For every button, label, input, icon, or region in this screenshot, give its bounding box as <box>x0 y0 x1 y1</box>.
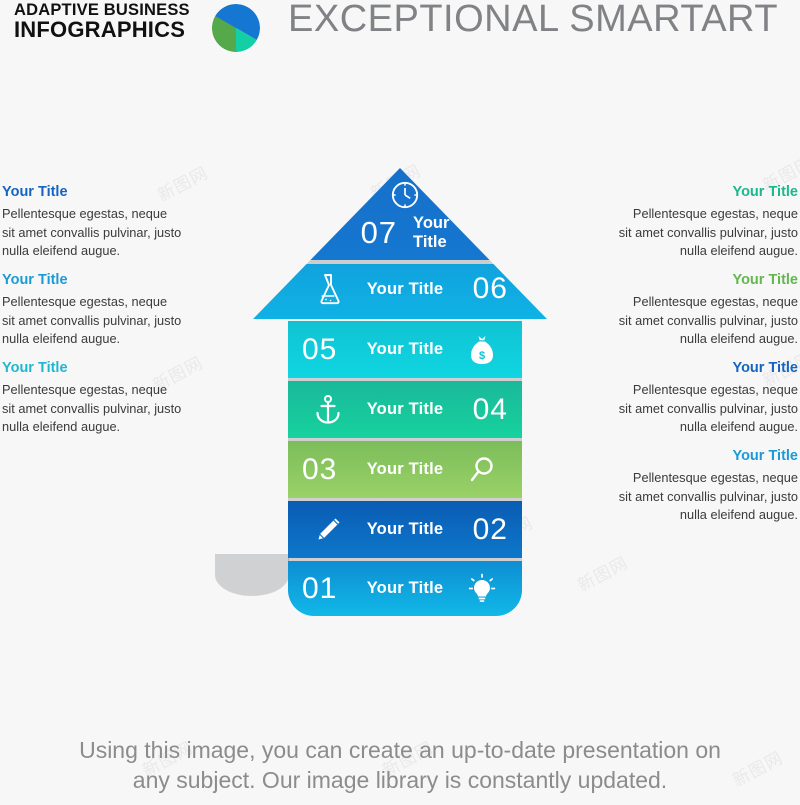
arrow-row-05-number: 05 <box>302 335 354 365</box>
body-line: nulla eleifend augue. <box>598 506 798 524</box>
body-line: Pellentesque egestas, neque <box>2 381 202 399</box>
arrow-row-07[interactable]: 07 YourTitle <box>288 205 522 260</box>
caption-line-2: any subject. Our image library is consta… <box>0 765 800 795</box>
body-line: sit amet convallis pulvinar, justo <box>598 312 798 330</box>
body-line: nulla eleifend augue. <box>598 330 798 348</box>
body-line: nulla eleifend augue. <box>2 330 202 348</box>
right-block-3-title: Your Title <box>598 360 798 377</box>
logo-pie-icon <box>212 4 260 52</box>
right-block-2-title: Your Title <box>598 272 798 289</box>
right-block-3-body: Pellentesque egestas, neque sit amet con… <box>598 381 798 435</box>
page-title: EXCEPTIONAL SMARTART <box>288 0 778 41</box>
magnifier-icon <box>456 454 508 486</box>
arrow-row-03[interactable]: 03 Your Title <box>288 441 522 498</box>
anchor-icon <box>302 394 354 426</box>
body-line: nulla eleifend augue. <box>2 242 202 260</box>
page-header: ADAPTIVE BUSINESS INFOGRAPHICS EXCEPTION… <box>0 0 800 58</box>
lightbulb-icon <box>456 573 508 605</box>
left-block-1-body: Pellentesque egestas, neque sit amet con… <box>2 205 202 259</box>
body-line: sit amet convallis pulvinar, justo <box>2 400 202 418</box>
arrow-row-04[interactable]: Your Title 04 <box>288 381 522 438</box>
body-line: sit amet convallis pulvinar, justo <box>598 488 798 506</box>
right-block-4-body: Pellentesque egestas, neque sit amet con… <box>598 469 798 523</box>
arrow-row-06-number: 06 <box>456 274 508 304</box>
left-block-2-body: Pellentesque egestas, neque sit amet con… <box>2 293 202 347</box>
right-block-1: Your Title Pellentesque egestas, neque s… <box>598 184 798 260</box>
right-block-1-body: Pellentesque egestas, neque sit amet con… <box>598 205 798 259</box>
body-line: sit amet convallis pulvinar, justo <box>2 224 202 242</box>
left-block-3-title: Your Title <box>2 360 202 377</box>
body-line: nulla eleifend augue. <box>598 242 798 260</box>
pencil-icon <box>302 515 354 545</box>
body-line: Pellentesque egestas, neque <box>598 205 798 223</box>
arrow-row-02[interactable]: Your Title 02 <box>288 501 522 558</box>
shadow-disc <box>215 554 289 596</box>
arrow-row-01[interactable]: 01 Your Title <box>288 561 522 616</box>
left-block-1-title: Your Title <box>2 184 202 201</box>
arrow-row-03-title: Your Title <box>354 460 456 479</box>
arrow-row-03-number: 03 <box>302 455 354 485</box>
left-block-2: Your Title Pellentesque egestas, neque s… <box>2 272 202 348</box>
body-line: sit amet convallis pulvinar, justo <box>598 400 798 418</box>
watermark-text: 新图网 <box>572 549 631 596</box>
right-block-4: Your Title Pellentesque egestas, neque s… <box>598 448 798 524</box>
arrow-row-05[interactable]: 05 Your Title $ <box>288 321 522 378</box>
caption-line-1: Using this image, you can create an up-t… <box>0 735 800 765</box>
arrow-row-07-number: 07 <box>361 217 397 248</box>
footer-caption: Using this image, you can create an up-t… <box>0 735 800 796</box>
body-line: nulla eleifend augue. <box>598 418 798 436</box>
right-block-2-body: Pellentesque egestas, neque sit amet con… <box>598 293 798 347</box>
brand-line-2: INFOGRAPHICS <box>14 19 190 41</box>
arrow-row-01-number: 01 <box>302 574 354 604</box>
brand-lockup: ADAPTIVE BUSINESS INFOGRAPHICS <box>14 2 190 41</box>
right-block-2: Your Title Pellentesque egestas, neque s… <box>598 272 798 348</box>
body-line: Pellentesque egestas, neque <box>2 205 202 223</box>
body-line: Pellentesque egestas, neque <box>598 469 798 487</box>
right-block-3: Your Title Pellentesque egestas, neque s… <box>598 360 798 436</box>
flask-icon <box>302 272 354 306</box>
arrow-row-06[interactable]: Your Title 06 <box>288 265 522 313</box>
left-block-1: Your Title Pellentesque egestas, neque s… <box>2 184 202 260</box>
arrow-row-04-number: 04 <box>456 395 508 425</box>
left-block-2-title: Your Title <box>2 272 202 289</box>
svg-text:$: $ <box>479 350 485 362</box>
body-line: Pellentesque egestas, neque <box>2 293 202 311</box>
body-line: Pellentesque egestas, neque <box>598 381 798 399</box>
arrow-row-02-number: 02 <box>456 515 508 545</box>
arrow-row-01-title: Your Title <box>354 579 456 598</box>
arrow-row-06-title: Your Title <box>354 280 456 299</box>
body-line: sit amet convallis pulvinar, justo <box>2 312 202 330</box>
left-block-3: Your Title Pellentesque egestas, neque s… <box>2 360 202 436</box>
arrow-row-04-title: Your Title <box>354 400 456 419</box>
body-line: Pellentesque egestas, neque <box>598 293 798 311</box>
left-block-3-body: Pellentesque egestas, neque sit amet con… <box>2 381 202 435</box>
body-line: nulla eleifend augue. <box>2 418 202 436</box>
right-block-4-title: Your Title <box>598 448 798 465</box>
arrow-row-05-title: Your Title <box>354 340 456 359</box>
right-block-1-title: Your Title <box>598 184 798 201</box>
money-bag-icon: $ <box>456 334 508 366</box>
arrow-row-07-title: YourTitle <box>413 214 449 251</box>
arrow-row-02-title: Your Title <box>354 520 456 539</box>
body-line: sit amet convallis pulvinar, justo <box>598 224 798 242</box>
